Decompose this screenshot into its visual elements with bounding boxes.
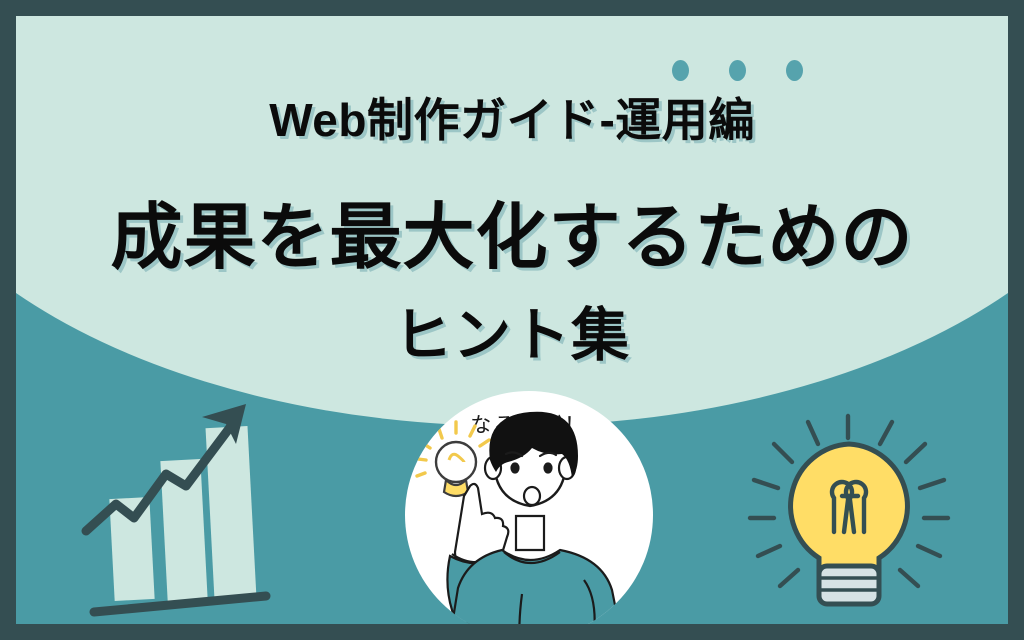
bulb-screw-base	[819, 566, 879, 604]
decorative-dot	[786, 60, 803, 81]
banner-image: Web制作ガイド-運用編 成果を最大化するための ヒント集	[0, 0, 1024, 640]
banner-stage: Web制作ガイド-運用編 成果を最大化するための ヒント集	[16, 16, 1008, 624]
banner-title-line-1: 成果を最大化するための	[16, 178, 1008, 283]
mouth	[524, 487, 540, 505]
banner-subtitle: Web制作ガイド-運用編	[16, 84, 1008, 150]
lightbulb-illustration	[722, 404, 972, 624]
person-illustration: なるほど！	[398, 384, 660, 624]
banner-title-line-2: ヒント集	[16, 288, 1008, 372]
neck	[516, 516, 544, 550]
decorative-dot	[729, 60, 746, 81]
decorative-dots	[672, 60, 803, 81]
decorative-dot	[672, 60, 689, 81]
eye-right	[543, 462, 552, 473]
growth-bar-chart-illustration	[76, 386, 336, 624]
eye-left	[510, 462, 519, 473]
